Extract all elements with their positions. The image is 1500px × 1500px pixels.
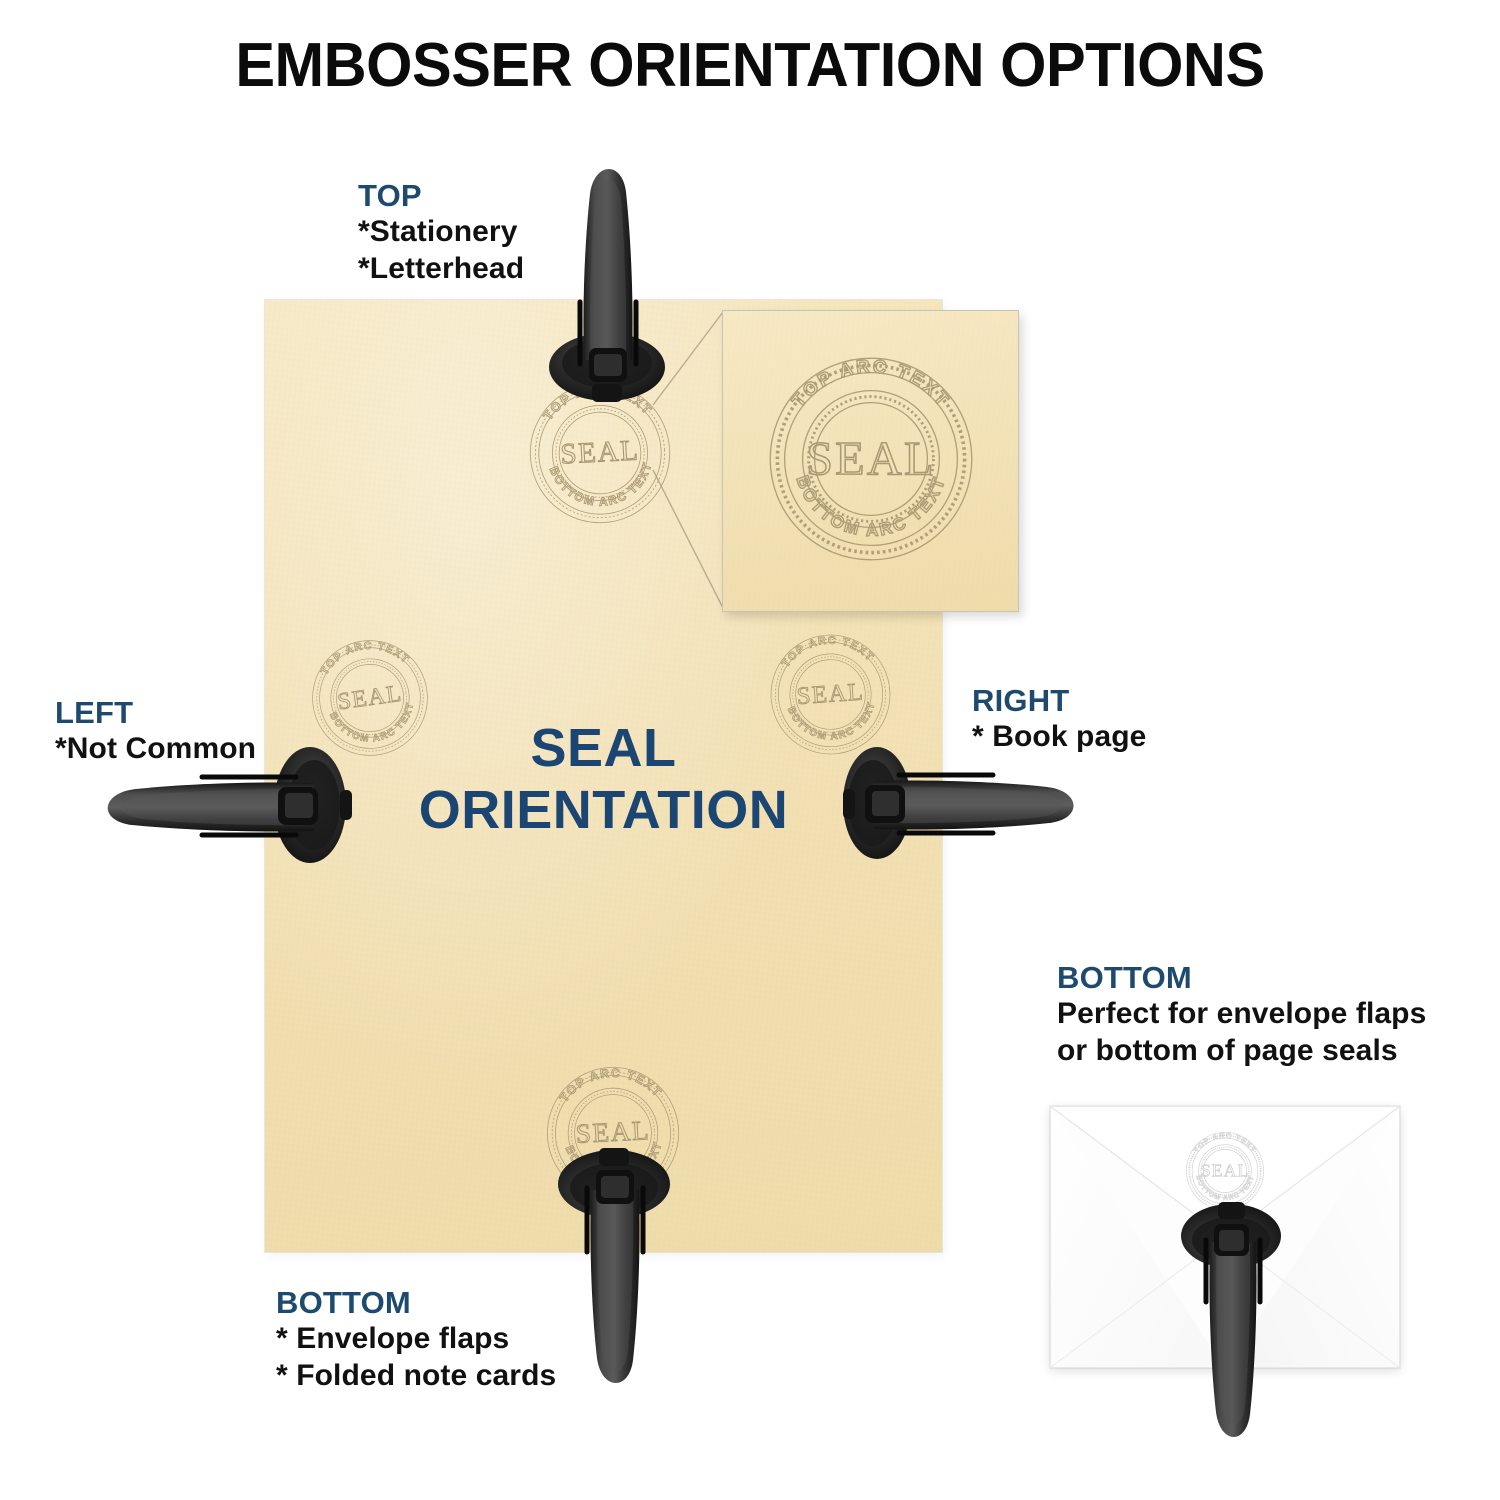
callout-left-heading: LEFT — [55, 695, 256, 731]
callout-right-heading: RIGHT — [972, 683, 1146, 719]
infographic-canvas: EMBOSSER ORIENTATION OPTIONS TOP ARC TEX… — [0, 0, 1500, 1500]
callout-bottom-paper-heading: BOTTOM — [276, 1285, 556, 1321]
callout-top-heading: TOP — [358, 178, 524, 214]
seal-zoom-inset: TOP ARC TEXT BOTTOM ARC TEXT SEAL — [722, 310, 1019, 612]
center-headline: SEAL ORIENTATION — [265, 718, 942, 841]
envelope: TOP ARC TEXT BOTTOM ARC TEXT SEAL — [1050, 1106, 1400, 1368]
callout-top-line-2: *Letterhead — [358, 251, 524, 288]
callout-left-line-1: *Not Common — [55, 731, 256, 768]
callout-bottom-paper-line-1: * Envelope flaps — [276, 1321, 556, 1358]
center-headline-line2: ORIENTATION — [265, 780, 942, 842]
svg-text:TOP ARC TEXT: TOP ARC TEXT — [787, 355, 954, 411]
callout-bottom-envelope: BOTTOM Perfect for envelope flaps or bot… — [1057, 960, 1426, 1069]
page-title: EMBOSSER ORIENTATION OPTIONS — [30, 30, 1470, 101]
callout-left: LEFT *Not Common — [55, 695, 256, 768]
seal-impression-zoomed: TOP ARC TEXT BOTTOM ARC TEXT SEAL — [751, 339, 991, 579]
callout-top-line-1: *Stationery — [358, 214, 524, 251]
seal-center-text: SEAL — [806, 433, 936, 486]
center-headline-line1: SEAL — [265, 718, 942, 780]
callout-bottom-paper-line-2: * Folded note cards — [276, 1358, 556, 1395]
callout-right: RIGHT * Book page — [972, 683, 1146, 756]
callout-bottom-envelope-heading: BOTTOM — [1057, 960, 1426, 996]
seal-bottom-arc-text: BOTTOM ARC TEXT — [793, 473, 950, 540]
envelope-fold-lines — [1050, 1106, 1400, 1368]
callout-top: TOP *Stationery *Letterhead — [358, 178, 524, 287]
svg-text:BOTTOM ARC TEXT: BOTTOM ARC TEXT — [793, 473, 950, 540]
callout-bottom-paper: BOTTOM * Envelope flaps * Folded note ca… — [276, 1285, 556, 1394]
callout-bottom-envelope-line-1: Perfect for envelope flaps — [1057, 996, 1426, 1033]
callout-right-line-1: * Book page — [972, 719, 1146, 756]
seal-top-arc-text: TOP ARC TEXT — [787, 355, 954, 411]
callout-bottom-envelope-line-2: or bottom of page seals — [1057, 1033, 1426, 1070]
